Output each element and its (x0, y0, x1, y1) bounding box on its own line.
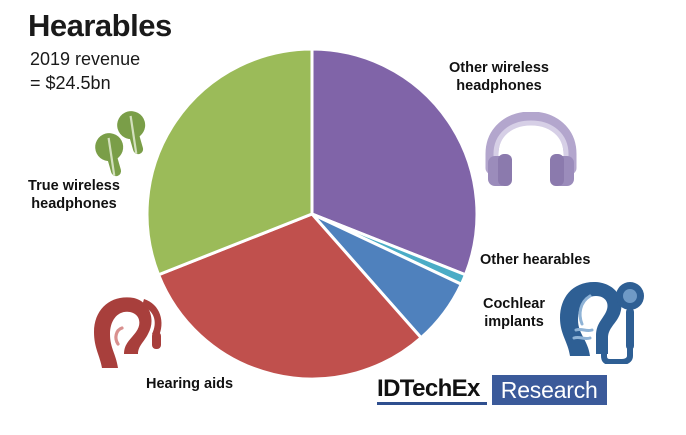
label-hearing-aids: Hearing aids (146, 376, 233, 394)
hearing-aid-ear-icon (78, 288, 170, 374)
infographic-canvas: Hearables 2019 revenue = $24.5bn Other w… (0, 0, 686, 435)
label-cochlear-implants: Cochlear implants (466, 296, 562, 331)
pie-slices (147, 49, 477, 379)
label-other-wireless-headphones: Other wireless headphones (424, 60, 574, 95)
headphones-icon (482, 112, 580, 190)
earbuds-icon (88, 108, 166, 182)
label-true-wireless-headphones: True wireless headphones (8, 178, 140, 213)
idtechex-research-logo[interactable]: IDTechEx Research (377, 375, 607, 405)
cochlear-implant-ear-icon (552, 276, 648, 364)
logo-research-badge: Research (492, 375, 607, 405)
logo-wordmark: IDTechEx (377, 375, 487, 405)
label-other-hearables: Other hearables (480, 252, 590, 270)
